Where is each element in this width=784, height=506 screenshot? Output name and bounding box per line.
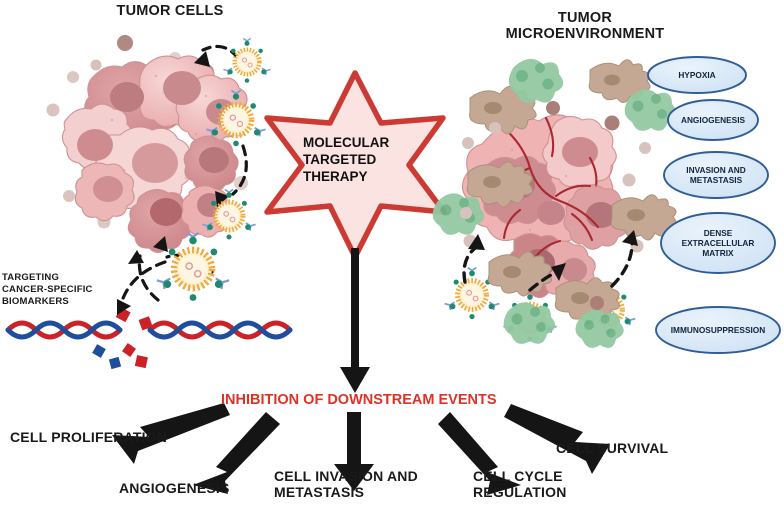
title-tumor-microenvironment: TUMOR MICROENVIRONMENT (460, 10, 710, 42)
outcome-label-0: CELL PROLIFERATION (10, 430, 167, 446)
outcome-label-3: CELL CYCLE REGULATION (473, 469, 567, 500)
title-tumor-cells: TUMOR CELLS (60, 3, 280, 19)
feature-label-3: DENSE EXTRACELLULAR MATRIX (661, 213, 775, 273)
targeting-biomarkers-label: TARGETING CANCER-SPECIFIC BIOMARKERS (2, 272, 93, 308)
outcome-label-2: CELL INVASION AND METASTASIS (274, 469, 418, 500)
outcome-label-4: CELL SURVIVAL (556, 441, 668, 457)
arrow-cell-survival (504, 404, 610, 474)
immune-cell (504, 302, 556, 344)
feature-label-2: INVASION AND METASTASIS (664, 152, 768, 198)
outcome-label-1: ANGIOGENESIS (119, 481, 230, 497)
star-label: MOLECULAR TARGETED THERAPY (303, 135, 389, 186)
downstream-header: INHIBITION OF DOWNSTREAM EVENTS (221, 392, 497, 408)
immune-cell (575, 310, 623, 348)
main-downstream-arrow (340, 248, 370, 393)
feature-label-0: HYPOXIA (648, 57, 746, 93)
figure-canvas: TUMOR CELLS TUMOR MICROENVIRONMENT MOLEC… (0, 0, 784, 506)
immune-cell (433, 193, 485, 235)
feature-label-1: ANGIOGENESIS (668, 100, 758, 140)
feature-label-4: IMMUNOSUPPRESSION (656, 307, 780, 353)
